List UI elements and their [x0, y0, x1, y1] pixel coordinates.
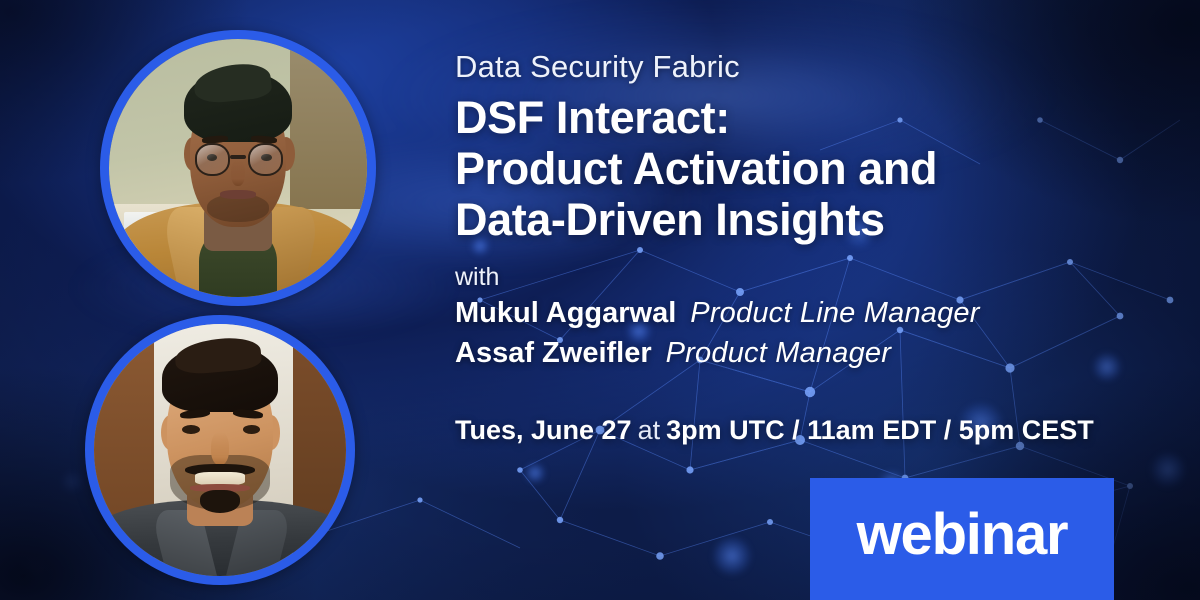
- webinar-promo-graphic: Data Security Fabric DSF Interact: Produ…: [0, 0, 1200, 600]
- headline-line-1: DSF Interact:: [455, 93, 1175, 144]
- speaker-role: Product Line Manager: [690, 297, 979, 329]
- speaker-entry: Mukul AggarwalProduct Line Manager: [455, 295, 1175, 332]
- avatar: [100, 30, 376, 306]
- event-datetime: Tues, June 27at3pm UTC / 11am EDT / 5pm …: [455, 415, 1175, 446]
- avatar-photo: [109, 39, 367, 297]
- eyebrow-text: Data Security Fabric: [455, 48, 1175, 86]
- speaker-name: Mukul Aggarwal: [455, 297, 676, 329]
- speaker-role: Product Manager: [666, 337, 891, 369]
- headline-line-2: Product Activation and: [455, 144, 1175, 195]
- with-label: with: [455, 262, 1175, 292]
- event-date: Tues, June 27: [455, 415, 632, 445]
- page-title: DSF Interact: Product Activation and Dat…: [455, 93, 1175, 246]
- avatar-photo: [94, 324, 346, 576]
- webinar-badge: webinar: [810, 478, 1114, 600]
- headline-line-3: Data-Driven Insights: [455, 195, 1175, 246]
- speaker-entry: Assaf ZweiflerProduct Manager: [455, 335, 1175, 372]
- webinar-badge-label: webinar: [857, 506, 1068, 564]
- promo-text-block: Data Security Fabric DSF Interact: Produ…: [455, 48, 1175, 446]
- speaker-name: Assaf Zweifler: [455, 337, 652, 369]
- avatar: [85, 315, 355, 585]
- event-times: 3pm UTC / 11am EDT / 5pm CEST: [666, 415, 1094, 445]
- datetime-connector: at: [638, 415, 661, 445]
